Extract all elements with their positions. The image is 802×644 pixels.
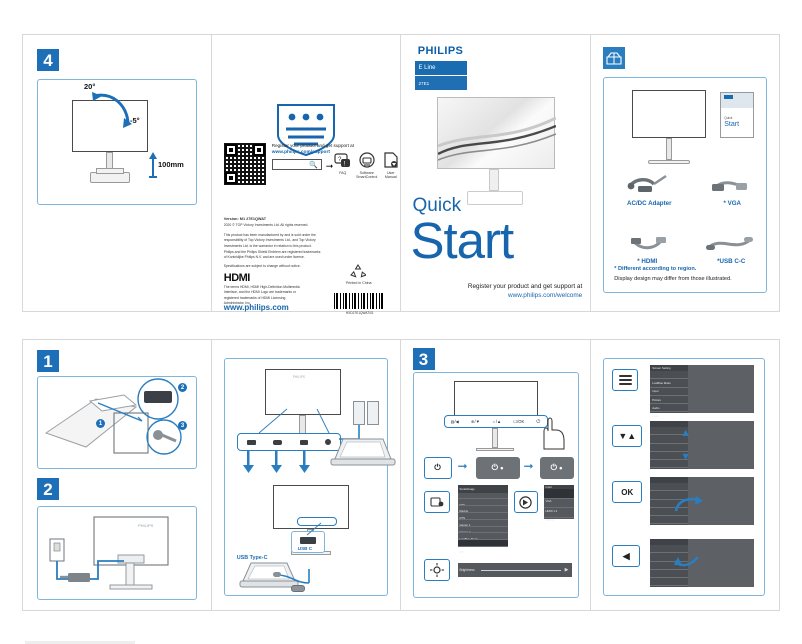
- usbc-monitor-port-strip[interactable]: [297, 517, 337, 526]
- height-adjust-label: 100mm: [158, 160, 184, 169]
- vga-port-icon[interactable]: [273, 440, 282, 445]
- panel-cover: PHILIPS E Line 27E1 Qui: [401, 35, 591, 311]
- philips-wordmark-text: PHILIPS: [418, 45, 464, 57]
- callout-2: 2: [178, 383, 187, 392]
- accessories-note-line2: Display design may differ from those ill…: [614, 275, 731, 285]
- step-badge-1: 1: [37, 350, 59, 372]
- ok-button[interactable]: OK: [612, 481, 642, 503]
- step-badge-2: 2: [37, 478, 59, 500]
- philips-shield-logo: [274, 101, 338, 157]
- step2-diagram-box: PHILIPS: [37, 506, 197, 600]
- up-arrow-indicator: ▲: [680, 427, 691, 439]
- panel-tilt-adjust: 4 20° -5°: [23, 35, 211, 311]
- software-smartcontrol-icon[interactable]: [359, 152, 375, 173]
- osd-monitor: [454, 381, 538, 417]
- usb-c-c-cable-label: *USB C-C: [702, 258, 760, 265]
- brightness-chevron-icon: ▶: [565, 567, 569, 573]
- hdmi-cable-icon: [628, 234, 670, 261]
- accessory-monitor-neck: [666, 138, 672, 160]
- hero-monitor-image: [437, 97, 555, 207]
- step1-illustration: [38, 377, 196, 468]
- tilt-diagram-box: 20° -5° 100mm: [37, 79, 197, 205]
- printed-in-label: Printed in China: [338, 281, 380, 285]
- register-url: www.philips.com/support: [272, 150, 330, 155]
- power-osd-box: ▤/◀ ⊕/▼ ☼/▲ ☐/OK ⏻ ⏻ ➞ ⏻ • ➞ ⏻ •: [413, 372, 579, 598]
- osd-menu-screenshot-4[interactable]: [650, 539, 754, 587]
- hand-cursor-icon: [536, 417, 572, 451]
- brightness-label: Brightness: [458, 567, 477, 573]
- callout-1: 1: [96, 419, 105, 428]
- legal-paragraph-1: This product has been manufactured by an…: [224, 233, 374, 249]
- osd-menu-screenshot-3[interactable]: [650, 477, 754, 525]
- flow-arrow-1: ➞: [458, 459, 468, 473]
- speaker-right: [367, 401, 379, 425]
- panel-power-osd: 3 ▤/◀ ⊕/▼ ☼/▲ ☐/OK ⏻ ⏻ ➞: [401, 340, 591, 610]
- philips-url[interactable]: www.philips.com: [224, 303, 289, 312]
- usbc-plug: [291, 585, 305, 592]
- osd-menu-row: Color: [650, 413, 661, 419]
- flow-arrow-2: ➞: [524, 459, 534, 473]
- barcode: [334, 293, 384, 309]
- search-input[interactable]: 🔍: [272, 159, 322, 170]
- search-icon: 🔍: [309, 161, 318, 169]
- port-strip[interactable]: [237, 433, 341, 451]
- updown-arrows-icon[interactable]: ▼▲: [612, 425, 642, 447]
- brightness-button[interactable]: [424, 559, 450, 581]
- usbc-cable-wire: [271, 555, 381, 589]
- legal-paragraph-2: Philips and the Philips Shield Emblem ar…: [224, 250, 374, 261]
- panel-register-legal: Register your product and get support at…: [212, 35, 400, 311]
- step2-illustration: PHILIPS: [38, 507, 196, 599]
- power-button-off[interactable]: ⏻: [424, 457, 452, 479]
- step-badge-4: 4: [37, 49, 59, 71]
- bottom-row: 1 1 2 3 2: [22, 339, 780, 611]
- tilt-down-label: -5°: [130, 116, 140, 125]
- series-label: E Line: [419, 65, 436, 71]
- tilt-up-label: 20°: [84, 82, 95, 91]
- osd-nav-box: Screen Setting LowBlue Mode Input Pictur…: [603, 358, 765, 596]
- osd-key-brightness[interactable]: ☼/▲: [492, 419, 501, 424]
- osd-key-smartimage[interactable]: ☐/OK: [513, 419, 524, 424]
- register-heading: Register your product and get support at: [272, 143, 354, 148]
- osd-monitor-neck: [492, 428, 498, 448]
- tilt-arc-arrows: [90, 86, 150, 132]
- booklet-quick-text: Quick: [724, 116, 732, 120]
- monitor-brand-mark: PHILIPS: [293, 375, 305, 379]
- callout-3: 3: [178, 421, 187, 430]
- cover-footer: Register your product and get support at…: [468, 282, 582, 301]
- usb-c-port-label: USB C: [298, 546, 312, 551]
- vga-cable-label: * VGA: [704, 200, 760, 207]
- cover-register-line: Register your product and get support at: [468, 282, 582, 292]
- philips-wordmark: PHILIPS: [415, 41, 467, 61]
- input-menu-item: USB C: [544, 517, 557, 523]
- model-label: 27E1: [419, 81, 430, 86]
- osd-monitor-base: [476, 448, 514, 451]
- menu-icon[interactable]: [612, 369, 638, 391]
- panel-assembly: 1 1 2 3 2: [23, 340, 211, 610]
- accessories-box: Quick Start AC/DC Adapter * VGA * HDMI: [603, 77, 767, 293]
- booklet-start-text: Start: [724, 121, 739, 128]
- accessories-note: * Different according to region. Display…: [614, 265, 731, 284]
- speaker-left: [353, 401, 365, 425]
- legal-version: Version: M1 27E1QWAT: [224, 217, 364, 223]
- panel-osd-navigation: Screen Setting LowBlue Mode Input Pictur…: [591, 340, 779, 610]
- enter-curve-arrow: [674, 495, 704, 515]
- brightness-slider[interactable]: Brightness ▶: [458, 563, 572, 577]
- legal-copyright: 2020 © TOP Victory Investments Ltd. All …: [224, 223, 374, 228]
- barcode-number: HXD27E1QWAT/01: [332, 311, 388, 315]
- hdmi-logo: HDMI: [224, 272, 250, 284]
- connections-box: PHILIPS: [224, 358, 388, 596]
- step-badge-3: 3: [413, 348, 435, 370]
- quick-start-booklet: Quick Start: [720, 92, 754, 138]
- down-arrow-indicator: ▼: [680, 451, 691, 463]
- software-smartcontrol-label: Software SmartControl: [352, 171, 382, 179]
- quick-start-sheet: 4 20° -5°: [0, 0, 802, 644]
- cover-register-url[interactable]: www.philips.com/welcome: [468, 291, 582, 301]
- osd-key-strip[interactable]: ▤/◀ ⊕/▼ ☼/▲ ☐/OK ⏻: [444, 415, 548, 428]
- osd-menu-title: Screen Setting: [650, 365, 672, 371]
- hdmi-cable-label: * HDMI: [616, 258, 678, 265]
- faq-label: FAQ: [334, 171, 352, 175]
- laptop-upper: [329, 437, 397, 473]
- user-manual-icon[interactable]: [384, 152, 398, 173]
- ac-dc-adapter-icon: [626, 174, 672, 203]
- usbc-port-icon-zoom: [300, 537, 316, 544]
- power-button-on[interactable]: ⏻ •: [476, 457, 520, 479]
- series-band: E Line: [415, 61, 467, 75]
- height-arrow: [148, 152, 158, 178]
- unbox-package-icon: [603, 47, 625, 69]
- usb-c-c-cable-icon: [704, 234, 754, 261]
- input-menu[interactable]: Input VGA HDMI 1.4 USB C: [544, 485, 574, 519]
- osd-key-input[interactable]: ⊕/▼: [471, 419, 480, 424]
- panel-accessories: Quick Start AC/DC Adapter * VGA * HDMI: [591, 35, 779, 311]
- monitor-base-inner: [96, 168, 124, 174]
- arrow-right-icon: ➞: [326, 161, 334, 172]
- user-manual-label: User Manual: [380, 171, 402, 179]
- accessory-monitor: [632, 90, 706, 138]
- smartimage-button[interactable]: [424, 491, 450, 513]
- power-button-standby[interactable]: ⏻ •: [540, 457, 574, 479]
- accessories-note-line1: * Different according to region.: [614, 265, 731, 275]
- smartimage-menu-title: SmartImage: [458, 486, 477, 492]
- input-source-button[interactable]: [514, 491, 538, 513]
- smartimage-item-selected: Off: [458, 549, 466, 555]
- ac-dc-adapter-label: AC/DC Adapter: [614, 200, 684, 207]
- cover-start-text: Start: [411, 211, 514, 270]
- usbc-port-callout: USB C: [291, 531, 325, 553]
- brightness-track[interactable]: [481, 570, 561, 571]
- osd-key-menu[interactable]: ▤/◀: [451, 419, 459, 424]
- accessory-monitor-base: [648, 160, 690, 164]
- back-curve-arrow: [672, 553, 702, 573]
- hdmi-port-icon[interactable]: [247, 440, 256, 445]
- svg-text:PHILIPS: PHILIPS: [138, 523, 154, 528]
- qr-code: [224, 143, 266, 185]
- vga-cable-icon: [708, 176, 750, 203]
- top-row: 4 20° -5°: [22, 34, 780, 312]
- smartimage-menu[interactable]: SmartImage FPS Racing RTS Gamer 1 Gamer …: [458, 485, 508, 547]
- usbc-port-icon[interactable]: [300, 440, 308, 445]
- back-arrow-icon[interactable]: ◀: [612, 545, 640, 567]
- panel-connections: PHILIPS: [212, 340, 400, 610]
- model-band: 27E1: [415, 76, 467, 90]
- osd-menu-screenshot-2[interactable]: ▲ ▼: [650, 421, 754, 469]
- osd-menu-screenshot-1[interactable]: Screen Setting LowBlue Mode Input Pictur…: [650, 365, 754, 413]
- step1-diagram-box: 1 2 3: [37, 376, 197, 469]
